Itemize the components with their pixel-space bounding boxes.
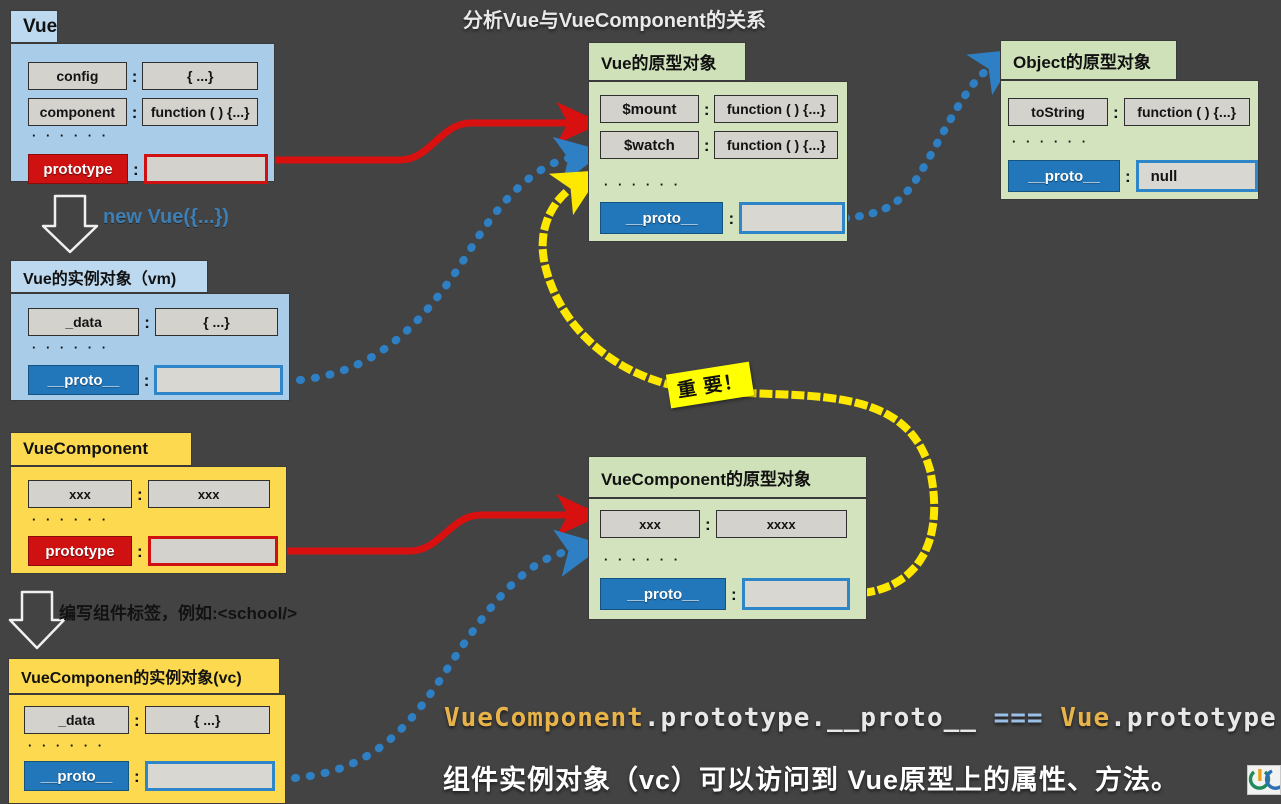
page-title: 分析Vue与VueComponent的关系 <box>463 4 766 33</box>
value-prototype <box>144 154 268 184</box>
footer-code-vuecomponent: VueComponent <box>444 703 644 733</box>
colon: : <box>132 543 148 560</box>
box-vc: VueComponen的实例对象(vc) _data : { ...} · · … <box>8 658 286 804</box>
row-vcproto-xxx: xxx : xxxx <box>600 510 858 538</box>
box-vm: Vue的实例对象（vm) _data : { ...} · · · · · · … <box>10 260 290 401</box>
key-xxx: xxx <box>600 510 700 538</box>
logo-icon <box>1248 766 1281 795</box>
box-vuecomponent: VueComponent xxx : xxx · · · · · · proto… <box>10 432 287 574</box>
key-prototype: prototype <box>28 154 128 184</box>
value-mount: function ( ) {...} <box>714 95 838 123</box>
key-proto: __proto__ <box>24 761 129 791</box>
key-proto: __proto__ <box>600 578 726 610</box>
box-object-prototype-object: Object的原型对象 toString : function ( ) {...… <box>1000 40 1259 200</box>
box-vc-header: VueComponen的实例对象(vc) <box>8 658 280 694</box>
box-vue-prototype-object: Vue的原型对象 $mount : function ( ) {...} $wa… <box>588 42 848 242</box>
value-null: null <box>1136 160 1258 192</box>
key-tostring: toString <box>1008 98 1108 126</box>
row-vcproto-proto: __proto__ : <box>600 578 865 610</box>
key-watch: $watch <box>600 131 699 159</box>
box-vuecomponent-header: VueComponent <box>10 432 192 466</box>
colon: : <box>1120 168 1136 185</box>
red-arrow-vue-prototype <box>265 123 572 160</box>
value-data: { ...} <box>155 308 278 336</box>
red-arrow-vuecomponent-prototype <box>277 515 572 551</box>
box-vuecomponent-prototype-header: VueComponent的原型对象 <box>588 456 867 498</box>
colon: : <box>128 161 144 178</box>
important-badge: 重 要！ <box>666 362 755 409</box>
ellipsis-dots: · · · · · · <box>28 738 105 753</box>
key-data: _data <box>28 308 139 336</box>
key-data: _data <box>24 706 129 734</box>
row-vc-proto: __proto__ : <box>24 761 279 791</box>
blue-dotted-vc-to-vuecomponent-prototype <box>280 551 570 779</box>
value-proto <box>145 761 275 791</box>
colon: : <box>1108 104 1124 121</box>
label-new-vue: new Vue({...}) <box>103 206 229 229</box>
value-watch: function ( ) {...} <box>714 131 838 159</box>
value-prototype <box>148 536 278 566</box>
value-component: function ( ) {...} <box>142 98 258 126</box>
row-vm-proto: __proto__ : <box>28 365 283 395</box>
watermark-logo <box>1247 765 1281 795</box>
key-proto: __proto__ <box>600 202 723 234</box>
row-objproto-proto: __proto__ : null <box>1008 160 1258 192</box>
down-arrow-write-tag <box>10 592 64 648</box>
value-data: { ...} <box>145 706 270 734</box>
row-vue-config: config : { ...} <box>28 62 258 90</box>
key-prototype: prototype <box>28 536 132 566</box>
colon: : <box>127 68 143 85</box>
value-config: { ...} <box>142 62 258 90</box>
colon: : <box>139 372 155 389</box>
box-vue-prototype-header: Vue的原型对象 <box>588 42 746 81</box>
row-vueproto-proto: __proto__ : <box>600 202 845 234</box>
row-vuecomponent-xxx: xxx : xxx <box>28 480 278 508</box>
ellipsis-dots: · · · · · · <box>604 552 681 567</box>
diagram-canvas: 分析Vue与VueComponent的关系 Vue config : { ...… <box>0 0 1281 804</box>
key-mount: $mount <box>600 95 699 123</box>
value-proto <box>154 365 283 395</box>
footer-code-prototype: .prototype <box>1110 703 1277 733</box>
value-proto <box>739 202 845 234</box>
value-proto <box>742 578 850 610</box>
ellipsis-dots: · · · · · · <box>32 128 109 143</box>
box-vm-header: Vue的实例对象（vm) <box>10 260 208 293</box>
label-write-component-tag: 编写组件标签，例如:<school/> <box>59 599 297 624</box>
box-vue: Vue config : { ...} component : function… <box>10 10 275 182</box>
colon: : <box>726 586 742 603</box>
value-xxx: xxx <box>148 480 270 508</box>
footer-code-prototype-proto: .prototype.__proto__ <box>644 703 994 733</box>
down-arrow-new-vue <box>43 196 97 252</box>
box-vue-header: Vue <box>10 10 58 43</box>
row-vue-component: component : function ( ) {...} <box>28 98 258 126</box>
key-proto: __proto__ <box>28 365 139 395</box>
colon: : <box>132 486 148 503</box>
colon: : <box>129 768 145 785</box>
row-vc-data: _data : { ...} <box>24 706 276 734</box>
footer-summary-line: 组件实例对象（vc）可以访问到 Vue原型上的属性、方法。 <box>443 758 1179 797</box>
colon: : <box>699 101 715 118</box>
ellipsis-dots: · · · · · · <box>604 177 681 192</box>
key-component: component <box>28 98 127 126</box>
colon: : <box>139 314 155 331</box>
box-object-prototype-header: Object的原型对象 <box>1000 40 1177 80</box>
row-vuecomponent-prototype: prototype : <box>28 536 283 566</box>
row-vue-prototype: prototype : <box>28 154 276 184</box>
row-tostring: toString : function ( ) {...} <box>1008 98 1256 126</box>
key-config: config <box>28 62 127 90</box>
ellipsis-dots: · · · · · · <box>1012 134 1089 149</box>
colon: : <box>700 516 716 533</box>
blue-dotted-vm-to-vue-prototype <box>285 158 570 381</box>
value-xxxx: xxxx <box>716 510 847 538</box>
colon: : <box>127 104 143 121</box>
footer-code-line: VueComponent.prototype.__proto__ === Vue… <box>444 703 1277 733</box>
ellipsis-dots: · · · · · · <box>32 340 109 355</box>
key-xxx: xxx <box>28 480 132 508</box>
footer-code-vue: Vue <box>1044 703 1111 733</box>
colon: : <box>699 137 715 154</box>
value-tostring: function ( ) {...} <box>1124 98 1250 126</box>
blue-dotted-vueproto-to-objectproto <box>845 68 990 218</box>
row-watch: $watch : function ( ) {...} <box>600 131 838 159</box>
row-vm-data: _data : { ...} <box>28 308 278 336</box>
colon: : <box>723 210 739 227</box>
footer-code-equality: === <box>994 703 1044 733</box>
ellipsis-dots: · · · · · · <box>32 512 109 527</box>
row-mount: $mount : function ( ) {...} <box>600 95 838 123</box>
colon: : <box>129 712 145 729</box>
box-vuecomponent-prototype-object: VueComponent的原型对象 xxx : xxxx · · · · · ·… <box>588 456 867 620</box>
key-proto: __proto__ <box>1008 160 1120 192</box>
